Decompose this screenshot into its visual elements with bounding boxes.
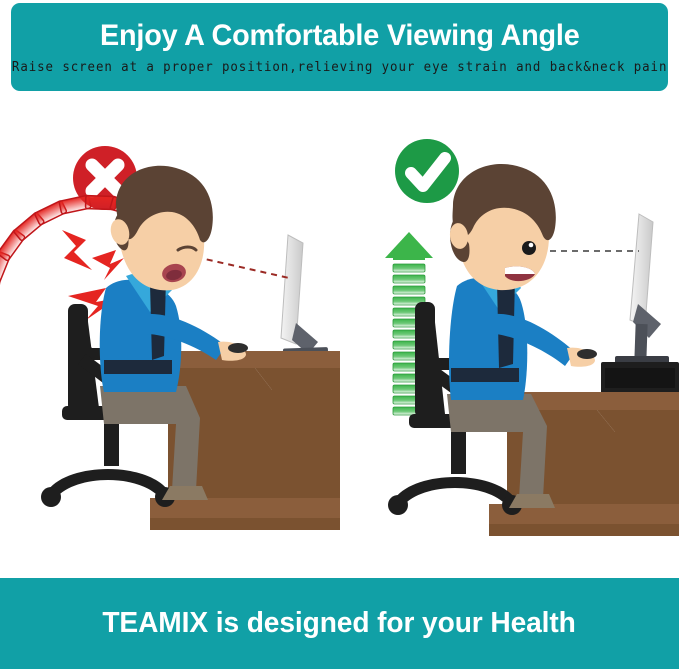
monitor-riser-stand bbox=[601, 362, 679, 394]
footer-tagline: TEAMIX is designed for your Health bbox=[103, 607, 576, 640]
header-banner: Enjoy A Comfortable Viewing Angle Raise … bbox=[11, 3, 668, 91]
mouse bbox=[577, 349, 597, 359]
monitor-raised bbox=[615, 214, 669, 364]
figure-head bbox=[448, 164, 556, 290]
footer-banner: TEAMIX is designed for your Health bbox=[0, 578, 679, 669]
monitor-low bbox=[281, 235, 328, 357]
panel-bad-posture bbox=[0, 118, 340, 568]
panel-good-posture bbox=[339, 118, 679, 568]
mouse bbox=[228, 343, 248, 353]
check-mark-icon bbox=[395, 139, 459, 203]
eye-line-dashed bbox=[196, 257, 289, 278]
figure-head bbox=[108, 166, 213, 291]
page-subtitle: Raise screen at a proper position,reliev… bbox=[12, 60, 667, 76]
infographic-root: Enjoy A Comfortable Viewing Angle Raise … bbox=[0, 0, 679, 669]
page-title: Enjoy A Comfortable Viewing Angle bbox=[100, 20, 580, 52]
